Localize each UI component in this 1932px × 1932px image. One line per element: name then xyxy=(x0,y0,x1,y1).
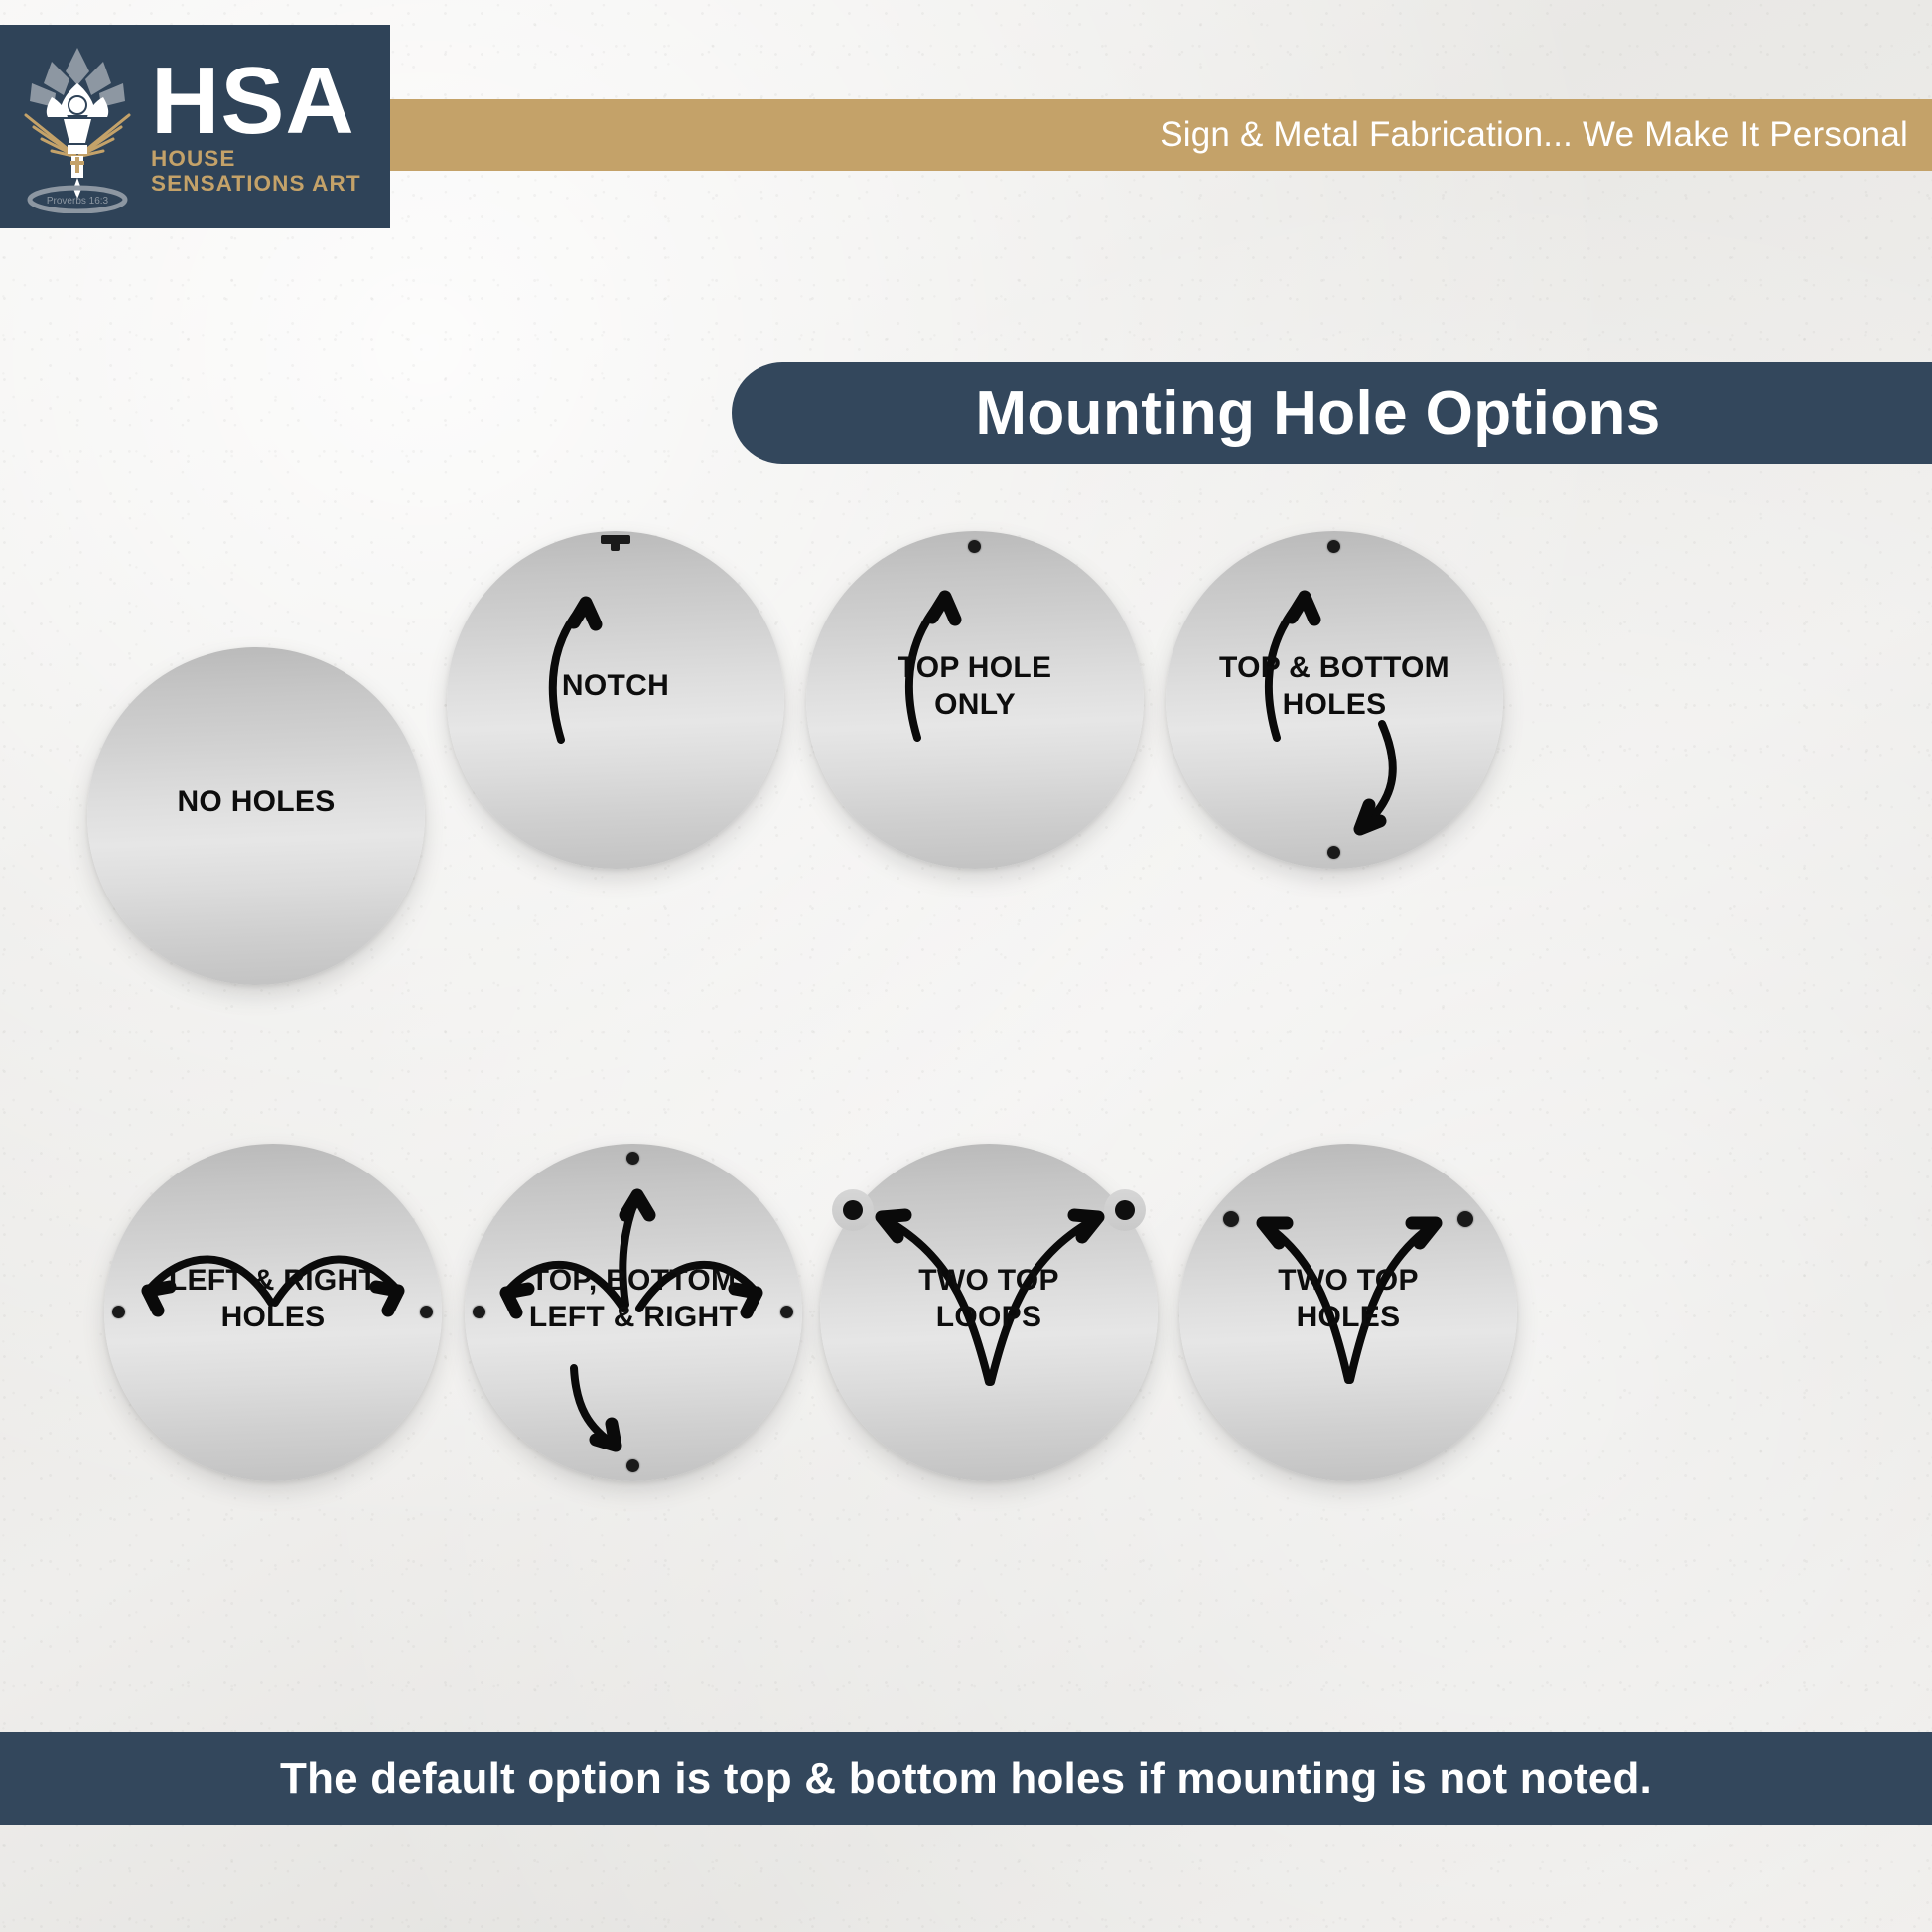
option-label-line1: TWO TOP xyxy=(1179,1263,1517,1300)
option-label: NO HOLES xyxy=(87,784,425,821)
option-two-top-holes[interactable]: TWO TOP HOLES xyxy=(1179,1144,1517,1481)
option-label-line1: TWO TOP xyxy=(820,1263,1158,1300)
option-label-line2: ONLY xyxy=(806,687,1144,724)
option-label-line2: LEFT & RIGHT xyxy=(465,1300,802,1336)
option-label-line2: HOLES xyxy=(1179,1300,1517,1336)
option-label-line2: LOOPS xyxy=(820,1300,1158,1336)
option-top-bottom-left-right[interactable]: TOP, BOTTOM LEFT & RIGHT xyxy=(465,1144,802,1481)
option-label-line1: TOP, BOTTOM xyxy=(465,1263,802,1300)
option-two-top-loops[interactable]: TWO TOP LOOPS xyxy=(820,1144,1158,1481)
option-no-holes[interactable]: NO HOLES xyxy=(87,647,425,985)
option-label-line2: HOLES xyxy=(1166,687,1503,724)
option-grid: NO HOLES NOTCH TOP HOLE ONLY xyxy=(0,0,1932,1932)
option-top-and-bottom-holes[interactable]: TOP & BOTTOM HOLES xyxy=(1166,531,1503,869)
option-label-line2: HOLES xyxy=(104,1300,442,1336)
option-top-hole-only[interactable]: TOP HOLE ONLY xyxy=(806,531,1144,869)
option-label-line1: TOP & BOTTOM xyxy=(1166,650,1503,687)
option-left-and-right-holes[interactable]: LEFT & RIGHT HOLES xyxy=(104,1144,442,1481)
option-notch[interactable]: NOTCH xyxy=(447,531,784,869)
option-label: NOTCH xyxy=(447,668,784,705)
footer-note-bar: The default option is top & bottom holes… xyxy=(0,1732,1932,1825)
option-label-line1: TOP HOLE xyxy=(806,650,1144,687)
option-label-line1: LEFT & RIGHT xyxy=(104,1263,442,1300)
footer-note: The default option is top & bottom holes… xyxy=(280,1754,1652,1804)
mounting-hole-options-graphic: Sign & Metal Fabrication... We Make It P… xyxy=(0,0,1932,1932)
